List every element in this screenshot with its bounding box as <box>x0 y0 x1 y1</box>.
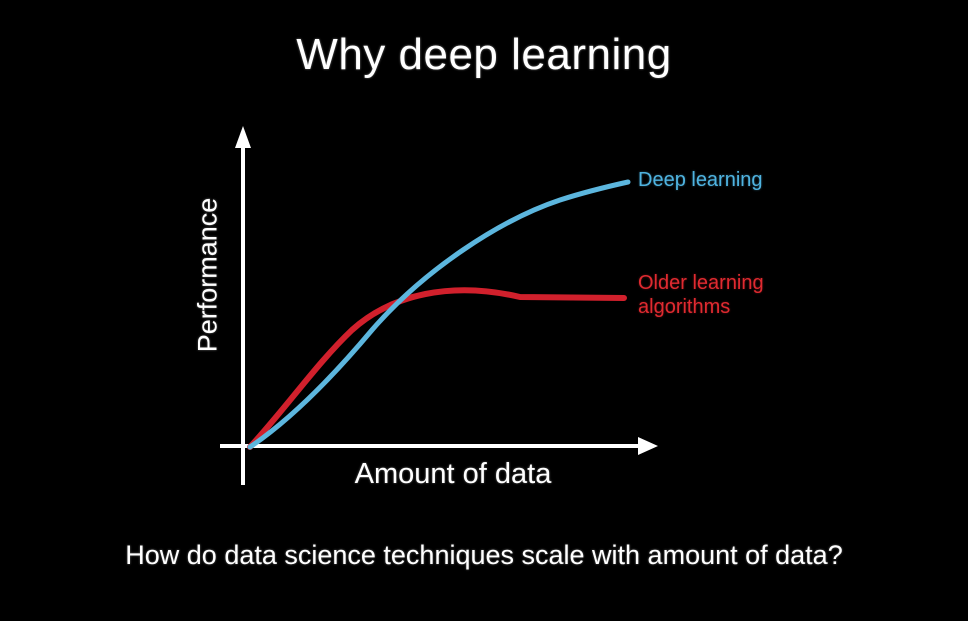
x-axis-label: Amount of data <box>338 458 568 491</box>
axes-group <box>220 126 658 485</box>
x-axis-arrowhead-icon <box>638 437 658 455</box>
series-line-deep-learning <box>250 182 628 447</box>
slide-caption: How do data science techniques scale wit… <box>0 540 968 571</box>
series-label-older-learning-algorithms: Older learning algorithms <box>638 271 764 320</box>
chart-svg <box>0 0 968 621</box>
series-group <box>250 182 628 447</box>
series-line-older-learning-algorithms <box>250 290 624 447</box>
slide-root: Why deep learning Performance Amount of … <box>0 0 968 621</box>
chart-container: Performance Amount of data Deep learning… <box>0 0 968 621</box>
y-axis-label: Performance <box>193 198 224 353</box>
series-label-deep-learning: Deep learning <box>638 168 763 192</box>
y-axis-arrowhead-icon <box>235 126 251 148</box>
